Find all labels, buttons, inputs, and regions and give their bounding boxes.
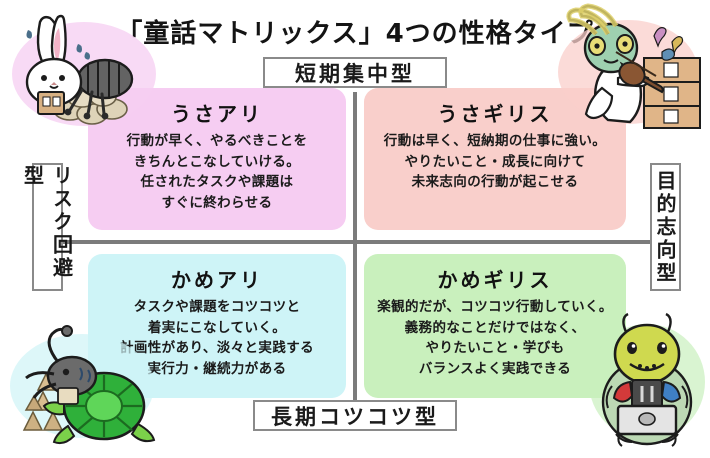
quadrant-bottom-right: かめギリス 楽観的だが、コツコツ行動していく。 義務的なことだけではなく、 やり… bbox=[364, 254, 626, 398]
description-line: 行動が早く、やるべきことを bbox=[88, 131, 346, 152]
quadrant-bottom-left: かめアリ タスクや課題をコツコツと 着実にこなしていく。 計画性があり、淡々と実… bbox=[88, 254, 346, 398]
description-line: バランスよく実践できる bbox=[364, 359, 626, 380]
description-line: 実行力・継続力がある bbox=[88, 359, 346, 380]
page-title: 「童話マトリックス」4つの性格タイプ bbox=[0, 13, 710, 50]
description-line: 任されたタスクや課題は bbox=[88, 172, 346, 193]
quadrant-top-right: うさギリス 行動は早く、短納期の仕事に強い。 やりたいこと・成長に向けて 未来志… bbox=[364, 88, 626, 230]
axis-label-left: リスク回避型 bbox=[32, 163, 63, 291]
description-line: タスクや課題をコツコツと bbox=[88, 297, 346, 318]
description-line: 計画性があり、淡々と実践する bbox=[88, 338, 346, 359]
quadrant-description-usa-ari: 行動が早く、やるべきことを きちんとこなしていける。 任されたタスクや課題は す… bbox=[88, 131, 346, 213]
description-line: やりたいこと・成長に向けて bbox=[364, 152, 626, 173]
description-line: 着実にこなしていく。 bbox=[88, 318, 346, 339]
description-line: 未来志向の行動が起こせる bbox=[364, 172, 626, 193]
description-line: やりたいこと・学びも bbox=[364, 338, 626, 359]
axis-label-right: 目的志向型 bbox=[650, 163, 681, 291]
axis-label-bottom: 長期コツコツ型 bbox=[253, 400, 457, 431]
description-line: 行動は早く、短納期の仕事に強い。 bbox=[364, 131, 626, 152]
description-line: 義務的なことだけではなく、 bbox=[364, 318, 626, 339]
description-line: すぐに終わらせる bbox=[88, 193, 346, 214]
description-line: きちんとこなしていける。 bbox=[88, 152, 346, 173]
vertical-axis-line bbox=[353, 92, 357, 402]
axis-label-top: 短期集中型 bbox=[263, 57, 447, 88]
quadrant-title-usa-girisu: うさギリス bbox=[364, 102, 626, 126]
quadrant-description-usa-girisu: 行動は早く、短納期の仕事に強い。 やりたいこと・成長に向けて 未来志向の行動が起… bbox=[364, 131, 626, 193]
quadrant-title-usa-ari: うさアリ bbox=[88, 102, 346, 126]
quadrant-description-kame-ari: タスクや課題をコツコツと 着実にこなしていく。 計画性があり、淡々と実践する 実… bbox=[88, 297, 346, 379]
horizontal-axis-line bbox=[48, 240, 662, 244]
matrix-diagram: 「童話マトリックス」4つの性格タイプ 短期集中型 長期コツコツ型 リスク回避型 … bbox=[0, 0, 710, 458]
quadrant-top-left: うさアリ 行動が早く、やるべきことを きちんとこなしていける。 任されたタスクや… bbox=[88, 88, 346, 230]
quadrant-title-kame-girisu: かめギリス bbox=[364, 268, 626, 292]
quadrant-title-kame-ari: かめアリ bbox=[88, 268, 346, 292]
quadrant-description-kame-girisu: 楽観的だが、コツコツ行動していく。 義務的なことだけではなく、 やりたいこと・学… bbox=[364, 297, 626, 379]
description-line: 楽観的だが、コツコツ行動していく。 bbox=[364, 297, 626, 318]
